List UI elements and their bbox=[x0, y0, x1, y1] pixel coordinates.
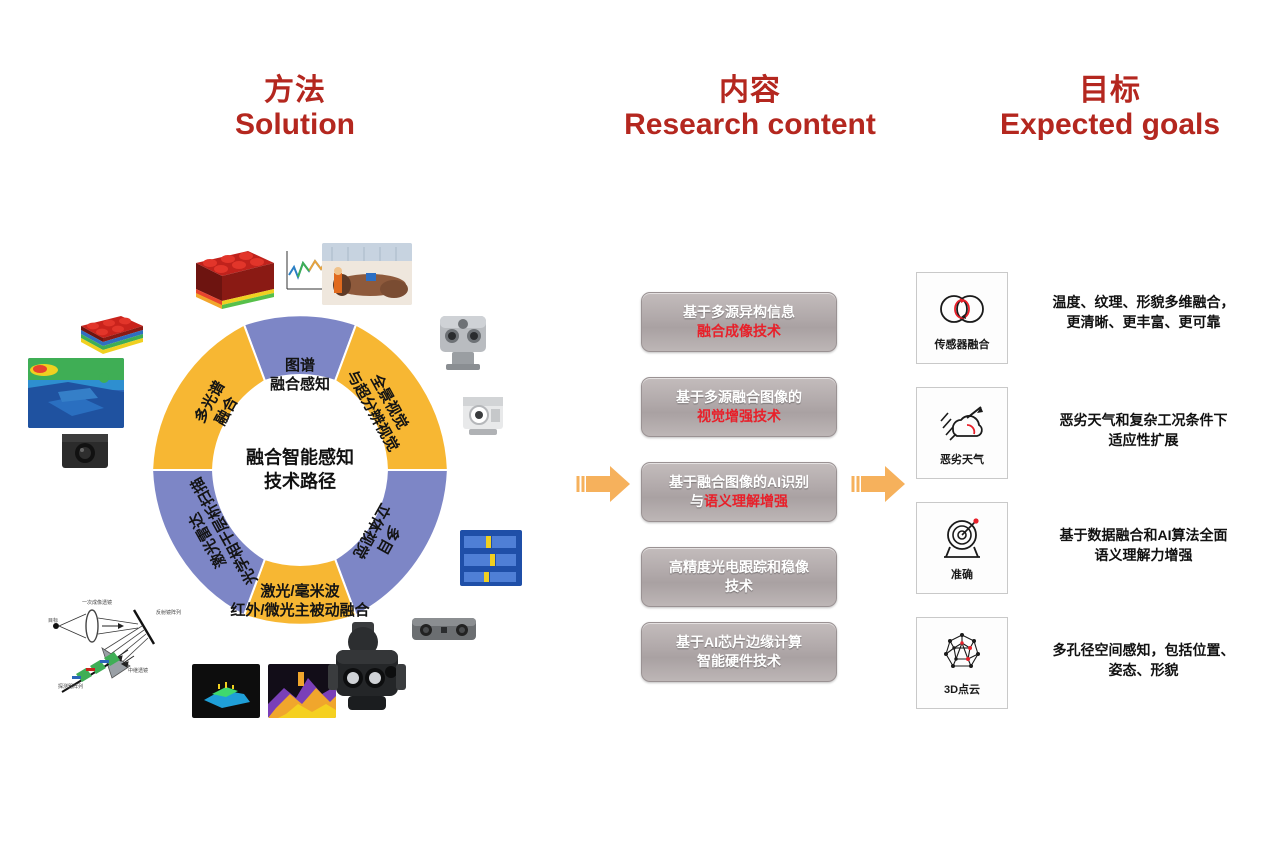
research-box-line2: 智能硬件技术 bbox=[676, 652, 802, 671]
rain-cloud-icon bbox=[937, 400, 987, 448]
header-goals-en: Expected goals bbox=[960, 108, 1260, 142]
sensor-fusion-icon bbox=[936, 285, 988, 333]
wheel-center-line1: 融合智能感知 bbox=[246, 446, 354, 470]
wheel-center-label: 融合智能感知 技术路径 bbox=[246, 446, 354, 495]
goal-card-point-cloud[interactable]: 3D点云 bbox=[916, 617, 1008, 709]
goal-card-caption: 传感器融合 bbox=[935, 336, 990, 352]
research-box-multisource-heterogeneous-fusion-imaging[interactable]: 基于多源异构信息 融合成像技术 bbox=[641, 292, 837, 352]
goal-text-accuracy: 基于数据融合和AI算法全面 语义理解力增强 bbox=[1026, 525, 1261, 566]
research-box-highlight: 融合成像技术 bbox=[683, 322, 795, 341]
research-box-highlight: 视觉增强技术 bbox=[676, 407, 802, 426]
research-box-ai-chip-edge-computing[interactable]: 基于AI芯片边缘计算 智能硬件技术 bbox=[641, 622, 837, 682]
camera-module-thumb bbox=[58, 428, 114, 472]
research-box-highlight: 语义理解增强 bbox=[704, 493, 788, 509]
goal-card-sensor-fusion[interactable]: 传感器融合 bbox=[916, 272, 1008, 364]
goal-text-bad-weather: 恶劣天气和复杂工况条件下 适应性扩展 bbox=[1026, 410, 1261, 451]
goal-text-sensor-fusion: 温度、纹理、形貌多维融合， 更清晰、更丰富、更可靠 bbox=[1026, 292, 1261, 333]
goal-card-bad-weather[interactable]: 恶劣天气 bbox=[916, 387, 1008, 479]
goal-card-caption: 准确 bbox=[951, 566, 973, 582]
technology-roadmap-wheel: 图谱 融合感知 全景视觉 与超分辨视觉 多目 立体视觉 激光/毫米波 红外/微光… bbox=[125, 295, 475, 645]
header-goals-cn: 目标 bbox=[960, 74, 1260, 108]
header-content-en: Research content bbox=[580, 108, 920, 142]
goal-text-line2: 适应性扩展 bbox=[1026, 430, 1261, 450]
target-icon bbox=[938, 515, 986, 563]
goal-text-line2: 姿态、形貌 bbox=[1026, 660, 1261, 680]
column-header-solution: 方法 Solution bbox=[140, 74, 450, 141]
arrow-solution-to-content bbox=[576, 462, 634, 511]
goal-text-line1: 温度、纹理、形貌多维融合， bbox=[1026, 292, 1261, 312]
research-box-high-precision-tracking[interactable]: 高精度光电跟踪和稳像 技术 bbox=[641, 547, 837, 607]
svg-text:中继透镜: 中继透镜 bbox=[128, 667, 148, 674]
goal-card-caption: 3D点云 bbox=[944, 681, 980, 697]
research-box-line2: 技术 bbox=[669, 577, 809, 596]
goal-card-caption: 恶劣天气 bbox=[940, 451, 984, 467]
research-box-visual-enhancement[interactable]: 基于多源融合图像的 视觉增强技术 bbox=[641, 377, 837, 437]
laser-scan-thumb bbox=[192, 664, 260, 718]
research-box-text: 基于多源异构信息 融合成像技术 bbox=[683, 303, 795, 341]
column-header-goals: 目标 Expected goals bbox=[960, 74, 1260, 141]
svg-text:目标: 目标 bbox=[48, 617, 58, 624]
research-box-line1: 基于融合图像的AI识别 bbox=[669, 473, 809, 492]
research-box-line2: 与语义理解增强 bbox=[669, 492, 809, 511]
research-box-text: 基于AI芯片边缘计算 智能硬件技术 bbox=[676, 633, 802, 671]
research-box-text: 基于融合图像的AI识别 与语义理解增强 bbox=[669, 473, 809, 511]
research-box-line2-prefix: 与 bbox=[690, 493, 704, 509]
goal-text-line1: 恶劣天气和复杂工况条件下 bbox=[1026, 410, 1261, 430]
arrow-content-to-goals bbox=[851, 462, 909, 511]
research-box-line1: 基于多源融合图像的 bbox=[676, 388, 802, 407]
research-box-ai-recognition-semantic[interactable]: 基于融合图像的AI识别 与语义理解增强 bbox=[641, 462, 837, 522]
header-content-cn: 内容 bbox=[580, 74, 920, 108]
column-header-content: 内容 Research content bbox=[580, 74, 920, 141]
goal-text-line1: 基于数据融合和AI算法全面 bbox=[1026, 525, 1261, 545]
research-box-text: 基于多源融合图像的 视觉增强技术 bbox=[676, 388, 802, 426]
spectral-scene-thumb bbox=[28, 358, 124, 428]
goal-card-accuracy[interactable]: 准确 bbox=[916, 502, 1008, 594]
goal-text-line2: 语义理解力增强 bbox=[1026, 545, 1261, 565]
header-solution-en: Solution bbox=[140, 108, 450, 142]
svg-text:探测器阵列: 探测器阵列 bbox=[58, 683, 83, 690]
diagram-canvas: 方法 Solution 内容 Research content 目标 Expec… bbox=[0, 0, 1268, 866]
research-box-line1: 高精度光电跟踪和稳像 bbox=[669, 558, 809, 577]
header-solution-cn: 方法 bbox=[140, 74, 450, 108]
goal-text-point-cloud: 多孔径空间感知，包括位置、 姿态、形貌 bbox=[1026, 640, 1261, 681]
wheel-center-line2: 技术路径 bbox=[246, 470, 354, 494]
research-box-text: 高精度光电跟踪和稳像 技术 bbox=[669, 558, 809, 596]
goal-text-line2: 更清晰、更丰富、更可靠 bbox=[1026, 312, 1261, 332]
research-box-line1: 基于AI芯片边缘计算 bbox=[676, 633, 802, 652]
svg-text:一次成像透镜: 一次成像透镜 bbox=[82, 599, 112, 606]
point-cloud-icon bbox=[938, 630, 986, 678]
research-box-line1: 基于多源异构信息 bbox=[683, 303, 795, 322]
goal-text-line1: 多孔径空间感知，包括位置、 bbox=[1026, 640, 1261, 660]
